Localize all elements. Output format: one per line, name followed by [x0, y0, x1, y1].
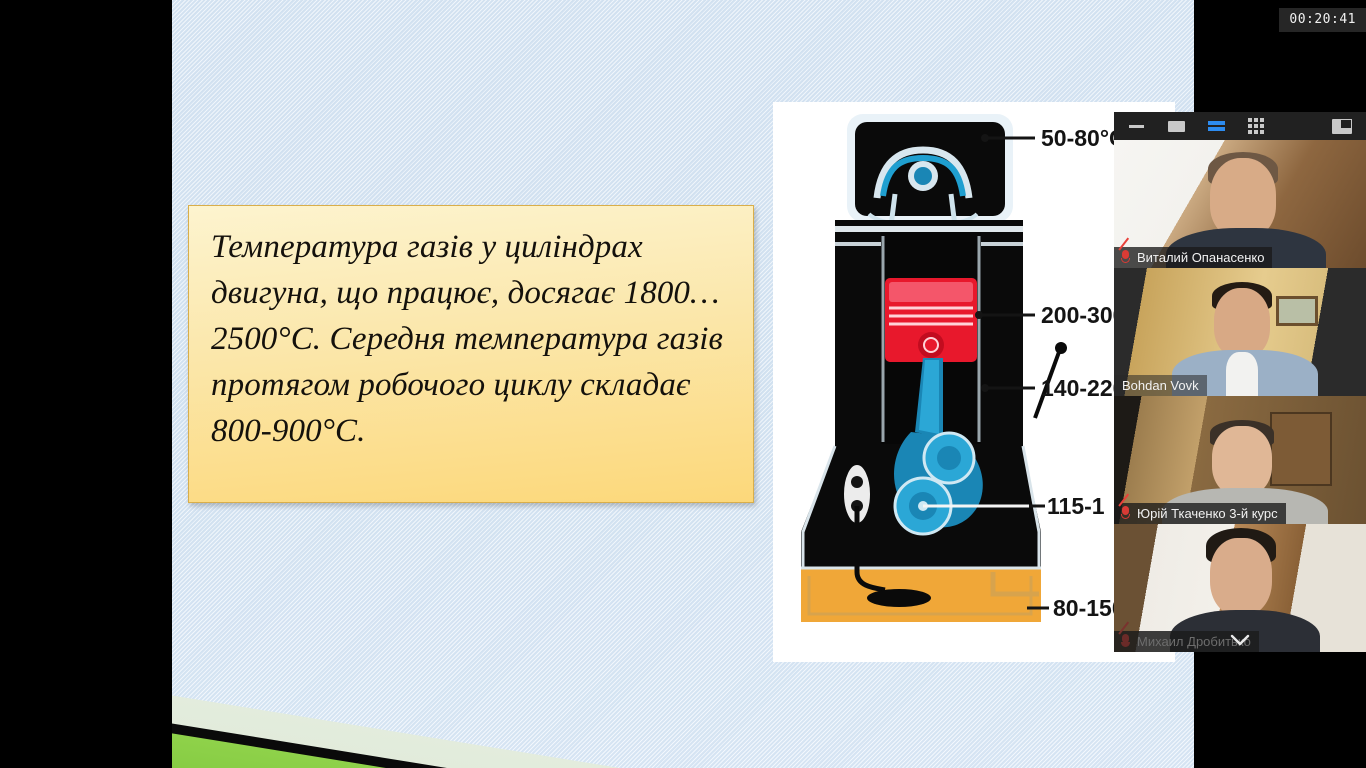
participant-name: Виталий Опанасенко — [1137, 250, 1264, 265]
grid-view-icon — [1248, 118, 1264, 134]
call-timer: 00:20:41 — [1279, 8, 1366, 32]
participant-tile[interactable]: Юрій Ткаченко 3-й курс — [1114, 396, 1366, 524]
participant-name-bar: Bohdan Vovk — [1114, 375, 1207, 396]
strip-view-icon — [1208, 121, 1225, 131]
temp-label-cylinder-wall: 140-220 — [1041, 375, 1125, 401]
participant-name-bar: Юрій Ткаченко 3-й курс — [1114, 503, 1286, 524]
video-panel-toolbar — [1114, 112, 1366, 140]
participant-name: Bohdan Vovk — [1122, 378, 1199, 393]
mic-muted-icon — [1120, 250, 1131, 265]
video-call-panel: Виталий Опанасенко Bohdan Vovk Юрій Ткач — [1114, 112, 1366, 652]
participant-name: Юрій Ткаченко 3-й курс — [1137, 506, 1278, 521]
slide-body-text: Температура газів у циліндрах двигуна, щ… — [211, 224, 733, 454]
grid-view-button[interactable] — [1246, 117, 1266, 135]
presentation-slide: Температура газів у циліндрах двигуна, щ… — [172, 0, 1194, 768]
strip-view-button[interactable] — [1206, 117, 1226, 135]
minimize-button[interactable] — [1126, 117, 1146, 135]
temp-label-head: 50-80°C — [1041, 125, 1126, 151]
mic-muted-icon — [1120, 634, 1131, 649]
participant-tile[interactable]: Виталий Опанасенко — [1114, 140, 1366, 268]
single-view-button[interactable] — [1166, 117, 1186, 135]
temp-label-bearing: 115-1 — [1047, 493, 1105, 519]
screen-root: Температура газів у циліндрах двигуна, щ… — [0, 0, 1366, 768]
participant-tile[interactable]: Михаил Дробитько — [1114, 524, 1366, 652]
mic-muted-icon — [1120, 506, 1131, 521]
slide-text-box: Температура газів у циліндрах двигуна, щ… — [188, 205, 754, 503]
participant-name-bar: Виталий Опанасенко — [1114, 247, 1272, 268]
chevron-down-icon[interactable] — [1230, 634, 1250, 646]
participant-tile[interactable]: Bohdan Vovk — [1114, 268, 1366, 396]
picture-in-picture-icon[interactable] — [1332, 119, 1352, 134]
single-view-icon — [1168, 121, 1185, 132]
temp-label-piston: 200-300 — [1041, 302, 1125, 328]
minimize-icon — [1129, 125, 1144, 128]
